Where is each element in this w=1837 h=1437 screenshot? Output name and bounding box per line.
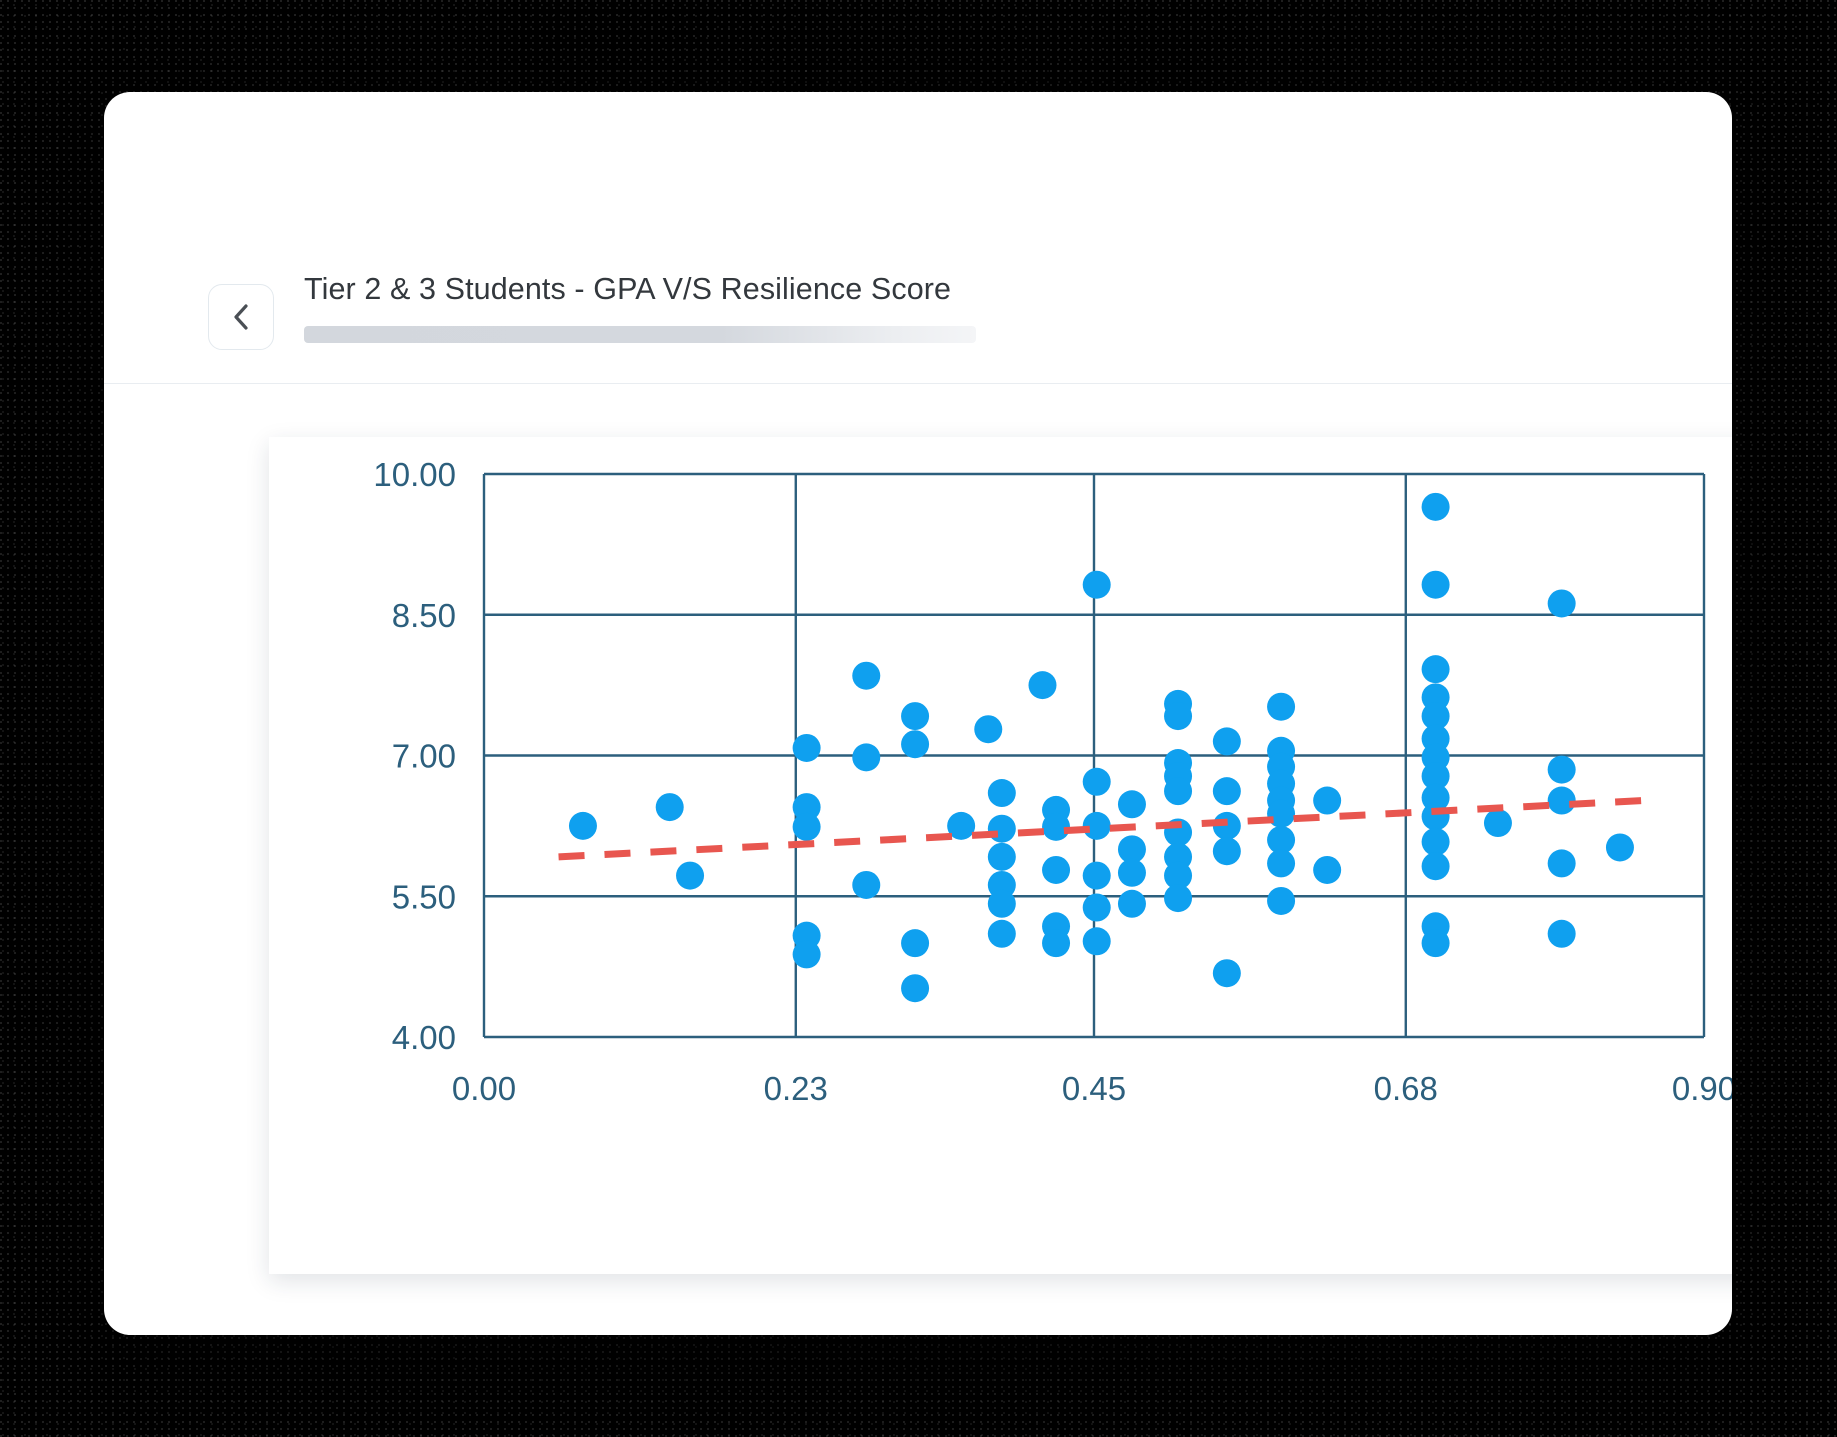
chevron-left-icon [230, 302, 252, 332]
scatter-chart-panel[interactable]: 4.005.507.008.5010.00 0.000.230.450.680.… [269, 437, 1732, 1274]
x-axis-tick-labels: 0.000.230.450.680.90 [452, 1070, 1732, 1107]
title-block: Tier 2 & 3 Students - GPA V/S Resilience… [304, 270, 1404, 343]
svg-text:10.00: 10.00 [373, 456, 456, 493]
y-axis-tick-labels: 4.005.507.008.5010.00 [373, 456, 456, 1056]
svg-text:8.50: 8.50 [392, 597, 456, 634]
svg-text:0.90: 0.90 [1672, 1070, 1732, 1107]
back-button[interactable] [208, 284, 274, 350]
svg-text:5.50: 5.50 [392, 878, 456, 915]
header: Tier 2 & 3 Students - GPA V/S Resilience… [104, 92, 1732, 292]
subtitle-skeleton-bar [304, 326, 976, 343]
chart-data-points [569, 493, 1634, 1002]
page-title: Tier 2 & 3 Students - GPA V/S Resilience… [304, 270, 1404, 308]
svg-text:0.45: 0.45 [1062, 1070, 1126, 1107]
svg-text:4.00: 4.00 [392, 1019, 456, 1056]
svg-text:0.68: 0.68 [1374, 1070, 1438, 1107]
svg-text:0.23: 0.23 [764, 1070, 828, 1107]
app-card: Tier 2 & 3 Students - GPA V/S Resilience… [104, 92, 1732, 1335]
scatter-chart[interactable]: 4.005.507.008.5010.00 0.000.230.450.680.… [269, 437, 1732, 1274]
svg-text:7.00: 7.00 [392, 738, 456, 775]
header-divider [104, 383, 1732, 384]
svg-text:0.00: 0.00 [452, 1070, 516, 1107]
